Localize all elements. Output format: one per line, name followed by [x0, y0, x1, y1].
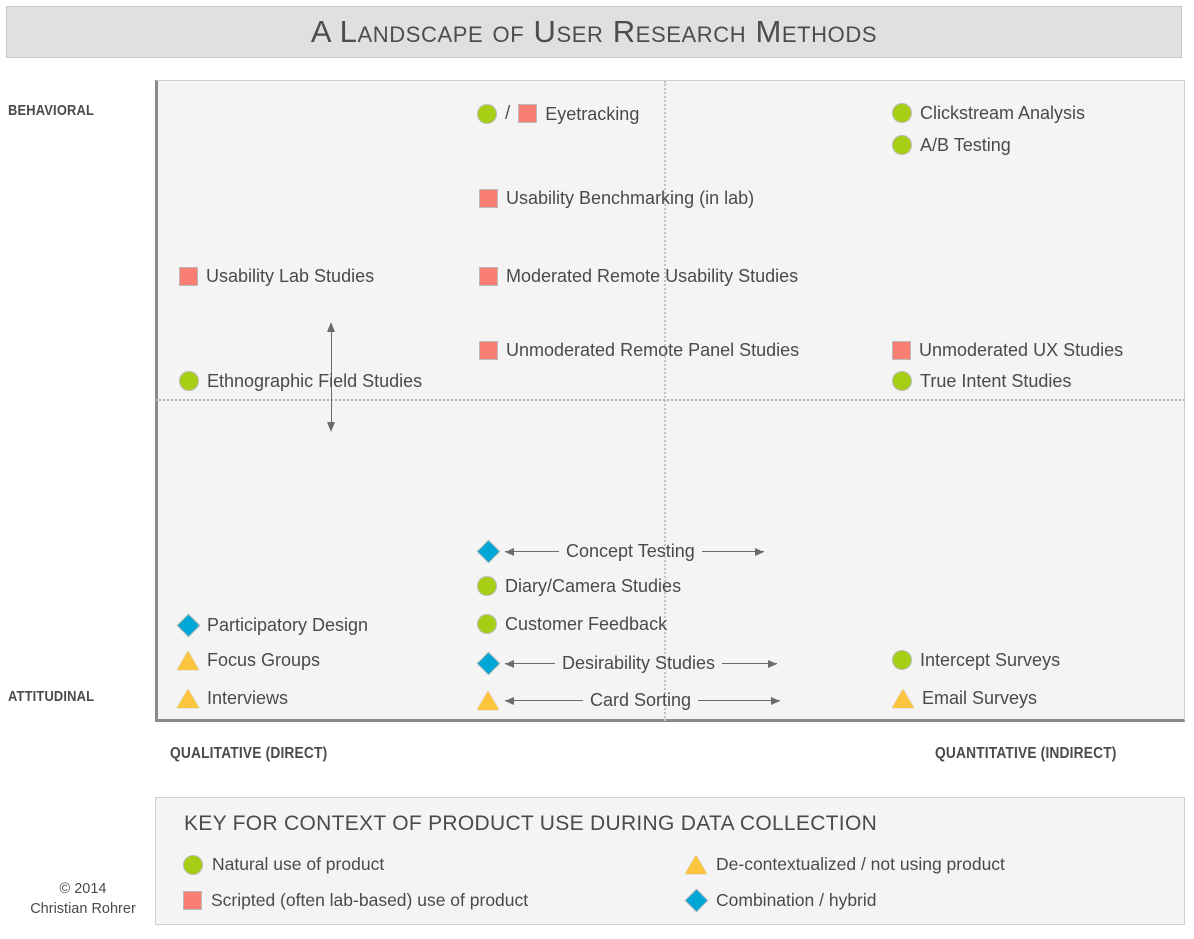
horizontal-gridline	[156, 399, 1185, 401]
triangle-marker-icon	[177, 689, 199, 708]
diamond-marker-icon	[477, 653, 498, 674]
circle-marker-icon	[893, 651, 911, 669]
method-label: Desirability Studies	[562, 653, 715, 674]
axis-label-qualitative: QUALITATIVE (DIRECT)	[170, 745, 327, 763]
method-label: Eyetracking	[544, 105, 639, 123]
title-bar: A Landscape of User Research Methods	[6, 6, 1182, 58]
legend-item-scripted-use: Scripted (often lab-based) use of produc…	[184, 890, 528, 911]
method-label: Usability Benchmarking (in lab)	[505, 189, 754, 207]
method-label: Clickstream Analysis	[919, 104, 1085, 122]
square-marker-icon	[480, 342, 497, 359]
method-unmoderated-remote-panel-studies[interactable]: Unmoderated Remote Panel Studies	[480, 341, 799, 359]
method-label: Diary/Camera Studies	[504, 577, 681, 595]
method-label: Email Surveys	[921, 689, 1037, 707]
legend-label: Natural use of product	[212, 854, 384, 875]
triangle-marker-wrap	[478, 691, 498, 711]
circle-marker-icon	[893, 136, 911, 154]
arrow-down-head	[327, 422, 335, 432]
legend-title: KEY FOR CONTEXT OF PRODUCT USE DURING DA…	[184, 812, 877, 836]
circle-marker-icon	[893, 104, 911, 122]
method-email-surveys[interactable]: Email Surveys	[893, 688, 1037, 708]
method-usability-benchmarking[interactable]: Usability Benchmarking (in lab)	[480, 189, 754, 207]
method-label: Interviews	[206, 689, 288, 707]
method-clickstream-analysis[interactable]: Clickstream Analysis	[893, 104, 1085, 122]
diamond-marker-wrap	[478, 542, 498, 562]
diamond-marker-icon	[685, 890, 706, 911]
triangle-marker-wrap	[893, 688, 913, 708]
method-unmoderated-ux-studies[interactable]: Unmoderated UX Studies	[893, 341, 1123, 359]
triangle-marker-icon	[477, 691, 499, 710]
method-label: Moderated Remote Usability Studies	[505, 267, 798, 285]
method-customer-feedback[interactable]: Customer Feedback	[478, 615, 667, 633]
method-label: Ethnographic Field Studies	[206, 372, 422, 390]
square-marker-icon	[180, 268, 197, 285]
arrow-right	[702, 551, 764, 552]
square-marker-icon	[480, 268, 497, 285]
method-label: A/B Testing	[919, 136, 1011, 154]
page-title: A Landscape of User Research Methods	[311, 14, 877, 50]
axis-label-quantitative: QUANTITATIVE (INDIRECT)	[935, 745, 1117, 763]
circle-marker-icon	[478, 615, 496, 633]
method-label: Usability Lab Studies	[205, 267, 374, 285]
method-true-intent-studies[interactable]: True Intent Studies	[893, 372, 1071, 390]
diamond-marker-wrap	[686, 891, 706, 911]
arrow-left	[505, 700, 583, 701]
axis-label-behavioral: BEHAVIORAL	[8, 102, 94, 119]
triangle-marker-wrap	[178, 650, 198, 670]
arrow-left	[505, 663, 555, 664]
square-marker-icon	[519, 105, 536, 122]
circle-marker-icon	[893, 372, 911, 390]
triangle-marker-wrap	[686, 855, 706, 875]
diamond-marker-wrap	[178, 615, 198, 635]
diamond-marker-icon	[177, 614, 198, 635]
triangle-marker-icon	[685, 855, 707, 874]
legend-label: Scripted (often lab-based) use of produc…	[211, 890, 528, 911]
diamond-marker-wrap	[478, 654, 498, 674]
axis-label-attitudinal: ATTITUDINAL	[8, 688, 94, 705]
arrow-right	[722, 663, 777, 664]
diamond-marker-icon	[477, 541, 498, 562]
triangle-marker-wrap	[178, 688, 198, 708]
method-label: Concept Testing	[566, 541, 695, 562]
circle-marker-icon	[184, 856, 202, 874]
copyright-year: © 2014	[18, 880, 148, 900]
arrow-left	[505, 551, 559, 552]
arrow-right	[698, 700, 780, 701]
method-intercept-surveys[interactable]: Intercept Surveys	[893, 651, 1060, 669]
legend-item-combination: Combination / hybrid	[686, 890, 877, 911]
separator-label: /	[505, 104, 510, 123]
diagram-canvas: A Landscape of User Research Methods BEH…	[0, 0, 1194, 939]
method-focus-groups[interactable]: Focus Groups	[178, 650, 320, 670]
legend-item-decontextualized: De-contextualized / not using product	[686, 854, 1005, 875]
square-marker-icon	[184, 892, 201, 909]
method-label: Unmoderated Remote Panel Studies	[505, 341, 799, 359]
method-eyetracking[interactable]: / Eyetracking	[478, 104, 639, 123]
triangle-marker-icon	[177, 651, 199, 670]
legend-label: De-contextualized / not using product	[716, 854, 1005, 875]
circle-marker-icon	[478, 105, 496, 123]
method-ethnographic-field-studies[interactable]: Ethnographic Field Studies	[180, 372, 422, 390]
method-label: Unmoderated UX Studies	[918, 341, 1123, 359]
legend-box: KEY FOR CONTEXT OF PRODUCT USE DURING DA…	[155, 797, 1185, 925]
method-interviews[interactable]: Interviews	[178, 688, 288, 708]
method-label: Card Sorting	[590, 690, 691, 711]
method-label: Customer Feedback	[504, 615, 667, 633]
triangle-marker-icon	[892, 689, 914, 708]
legend-item-natural-use: Natural use of product	[184, 854, 384, 875]
method-diary-camera-studies[interactable]: Diary/Camera Studies	[478, 577, 681, 595]
method-desirability-studies[interactable]: Desirability Studies	[478, 653, 777, 674]
square-marker-icon	[893, 342, 910, 359]
method-label: Intercept Surveys	[919, 651, 1060, 669]
square-marker-icon	[480, 190, 497, 207]
copyright-author: Christian Rohrer	[18, 900, 148, 920]
method-concept-testing[interactable]: Concept Testing	[478, 541, 764, 562]
method-participatory-design[interactable]: Participatory Design	[178, 615, 368, 635]
copyright: © 2014 Christian Rohrer	[18, 880, 148, 919]
method-usability-lab-studies[interactable]: Usability Lab Studies	[180, 267, 374, 285]
legend-label: Combination / hybrid	[716, 890, 877, 911]
method-label: Focus Groups	[206, 651, 320, 669]
circle-marker-icon	[478, 577, 496, 595]
method-moderated-remote-usability-studies[interactable]: Moderated Remote Usability Studies	[480, 267, 798, 285]
circle-marker-icon	[180, 372, 198, 390]
method-card-sorting[interactable]: Card Sorting	[478, 690, 780, 711]
method-ab-testing[interactable]: A/B Testing	[893, 136, 1011, 154]
method-label: Participatory Design	[206, 616, 368, 634]
method-label: True Intent Studies	[919, 372, 1071, 390]
